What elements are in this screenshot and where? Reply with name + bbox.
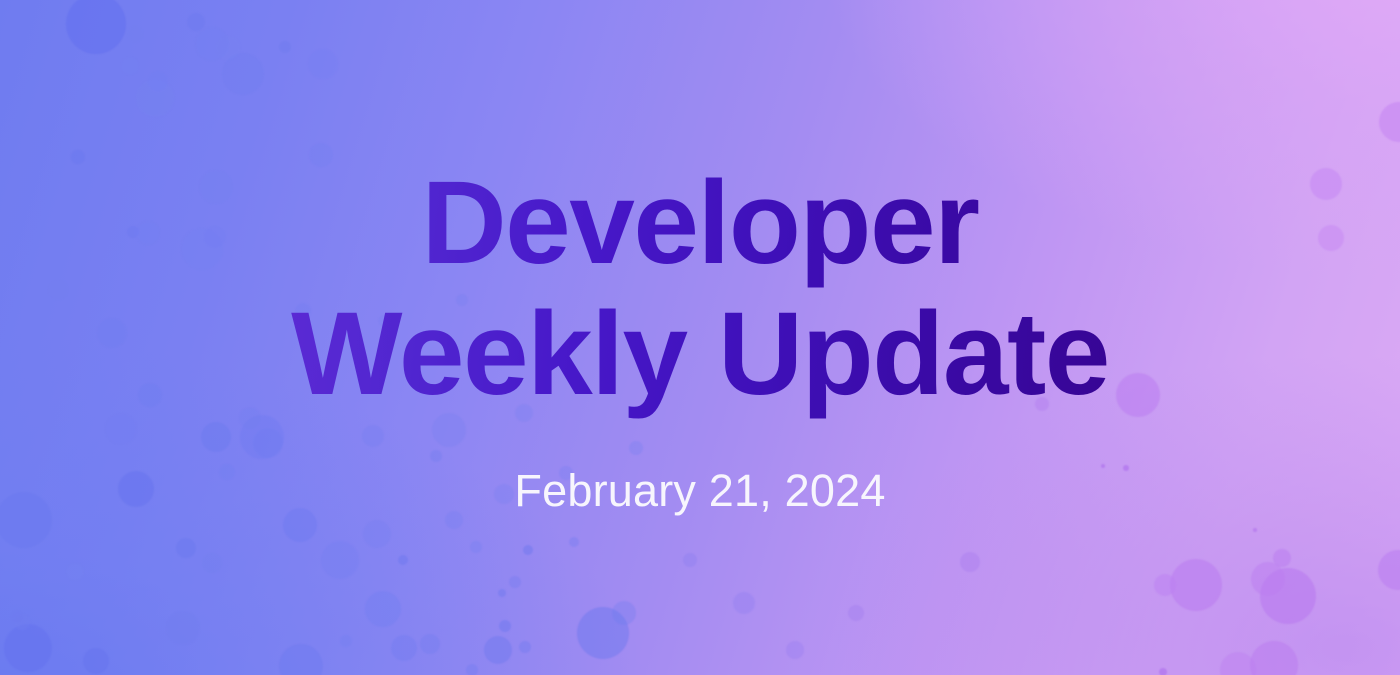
- banner-root: Developer Weekly Update February 21, 202…: [0, 0, 1400, 675]
- banner-content: Developer Weekly Update February 21, 202…: [0, 0, 1400, 675]
- issue-date: February 21, 2024: [514, 465, 885, 517]
- title-line-1: Developer: [291, 158, 1109, 289]
- title-line-2: Weekly Update: [291, 289, 1109, 420]
- page-title: Developer Weekly Update: [291, 158, 1109, 420]
